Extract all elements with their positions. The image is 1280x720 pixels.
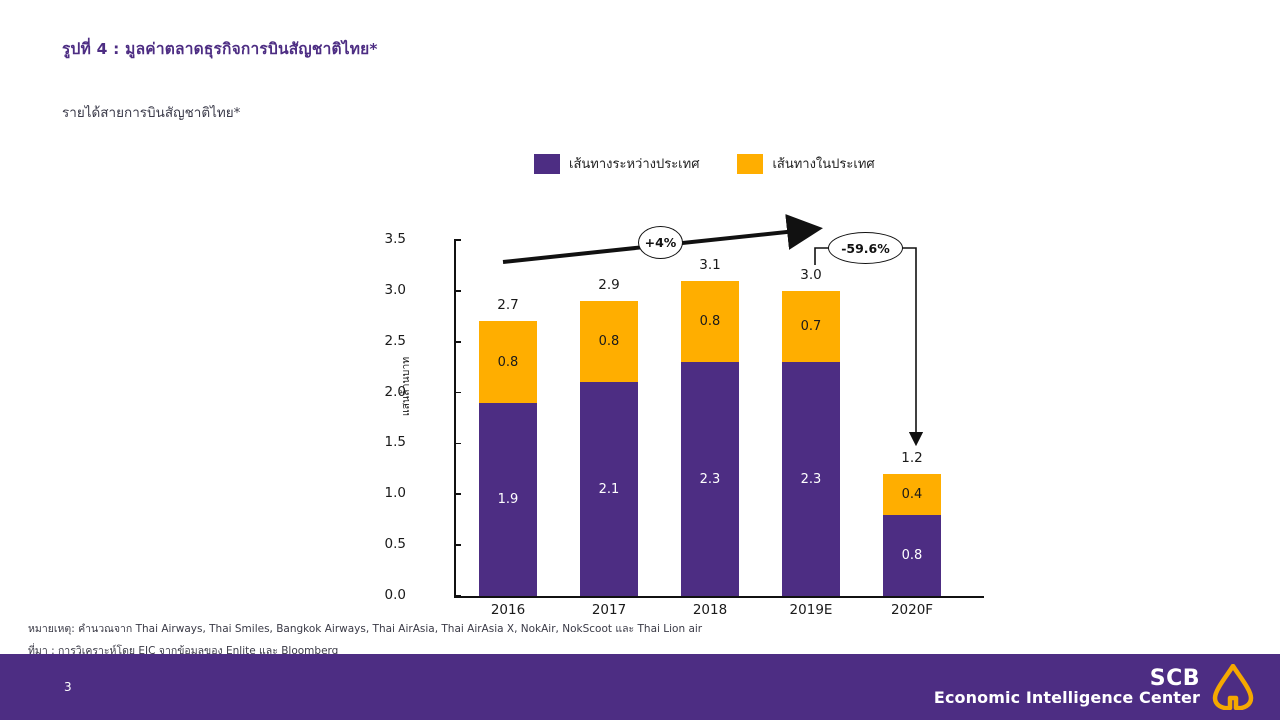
x-axis-tick-label: 2018 [681, 602, 739, 618]
chart-plot-area: แสนล้านบาท 0.00.51.01.52.02.53.03.5 1.90… [414, 228, 984, 610]
bar-group: 0.80.4 [883, 240, 941, 596]
y-axis-tick-label: 2.0 [366, 384, 406, 400]
legend-label-domestic: เส้นทางในประเทศ [772, 153, 874, 174]
bar-segment-domestic: 0.8 [479, 321, 537, 402]
x-axis-tick-label: 2017 [580, 602, 638, 618]
x-axis-tick-label: 2016 [479, 602, 537, 618]
x-axis-tick-label: 2020F [883, 602, 941, 618]
legend-item-international: เส้นทางระหว่างประเทศ [534, 153, 699, 174]
y-axis-tick [454, 493, 461, 495]
bar-segment-international: 2.1 [580, 382, 638, 596]
page-subtitle: รายได้สายการบินสัญชาติไทย* [62, 101, 240, 123]
x-axis-line [454, 596, 984, 598]
y-axis-tick-label: 3.0 [366, 282, 406, 298]
bar-segment-domestic: 0.7 [782, 291, 840, 362]
annotation-growth-badge: +4% [638, 226, 683, 259]
bar-segment-value: 1.9 [498, 493, 519, 506]
bar-total-label: 3.0 [782, 267, 840, 283]
bar-segment-domestic: 0.8 [681, 281, 739, 362]
footnote-note: หมายเหตุ: คำนวณจาก Thai Airways, Thai Sm… [28, 620, 702, 637]
y-axis-tick [454, 290, 461, 292]
chart-legend: เส้นทางระหว่างประเทศ เส้นทางในประเทศ [534, 153, 875, 174]
bar-total-label: 2.9 [580, 277, 638, 293]
bar-total-label: 2.7 [479, 297, 537, 313]
scb-leaf-icon [1212, 664, 1254, 710]
bar-segment-value: 2.3 [700, 473, 721, 486]
page-title: รูปที่ 4 : มูลค่าตลาดธุรกิจการบินสัญชาติ… [62, 36, 378, 61]
bar-segment-value: 0.8 [700, 315, 721, 328]
y-axis-tick-label: 0.5 [366, 536, 406, 552]
legend-label-international: เส้นทางระหว่างประเทศ [569, 153, 699, 174]
bar-segment-value: 0.8 [599, 335, 620, 348]
brand-logo: SCB Economic Intelligence Center [934, 664, 1254, 710]
bar-total-label: 1.2 [883, 450, 941, 466]
brand-text: SCB Economic Intelligence Center [934, 667, 1200, 707]
bar-segment-value: 2.1 [599, 483, 620, 496]
y-axis-tick [454, 595, 461, 597]
bar-group: 2.30.8 [681, 240, 739, 596]
bar-segment-value: 0.7 [801, 320, 822, 333]
x-axis-tick-label: 2019E [782, 602, 840, 618]
y-axis-tick [454, 341, 461, 343]
bar-segment-international: 1.9 [479, 403, 537, 596]
y-axis-tick [454, 392, 461, 394]
bar-group: 2.30.7 [782, 240, 840, 596]
legend-swatch-icon-domestic [737, 154, 763, 174]
bar-segment-domestic: 0.4 [883, 474, 941, 515]
y-axis-tick-label: 1.5 [366, 434, 406, 450]
legend-swatch-icon-international [534, 154, 560, 174]
bar-total-label: 3.1 [681, 257, 739, 273]
bar-group: 2.10.8 [580, 240, 638, 596]
legend-item-domestic: เส้นทางในประเทศ [737, 153, 874, 174]
bar-segment-international: 0.8 [883, 515, 941, 596]
bar-segment-international: 2.3 [681, 362, 739, 596]
bar-segment-value: 0.8 [498, 356, 519, 369]
y-axis-tick-label: 1.0 [366, 485, 406, 501]
y-axis-tick [454, 544, 461, 546]
y-axis-tick [454, 443, 461, 445]
bar-segment-value: 2.3 [801, 473, 822, 486]
slide-canvas: รูปที่ 4 : มูลค่าตลาดธุรกิจการบินสัญชาติ… [0, 0, 1280, 720]
y-axis-tick-label: 2.5 [366, 333, 406, 349]
bar-segment-domestic: 0.8 [580, 301, 638, 382]
y-axis-tick-label: 0.0 [366, 587, 406, 603]
page-number: 3 [64, 680, 72, 694]
bar-segment-international: 2.3 [782, 362, 840, 596]
brand-name-eic: Economic Intelligence Center [934, 690, 1200, 707]
annotation-decline-badge: -59.6% [828, 232, 903, 264]
y-axis-tick [454, 239, 461, 241]
brand-name-scb: SCB [934, 667, 1200, 690]
bar-segment-value: 0.8 [902, 549, 923, 562]
bar-group: 1.90.8 [479, 240, 537, 596]
bar-segment-value: 0.4 [902, 488, 923, 501]
y-axis-tick-label: 3.5 [366, 231, 406, 247]
